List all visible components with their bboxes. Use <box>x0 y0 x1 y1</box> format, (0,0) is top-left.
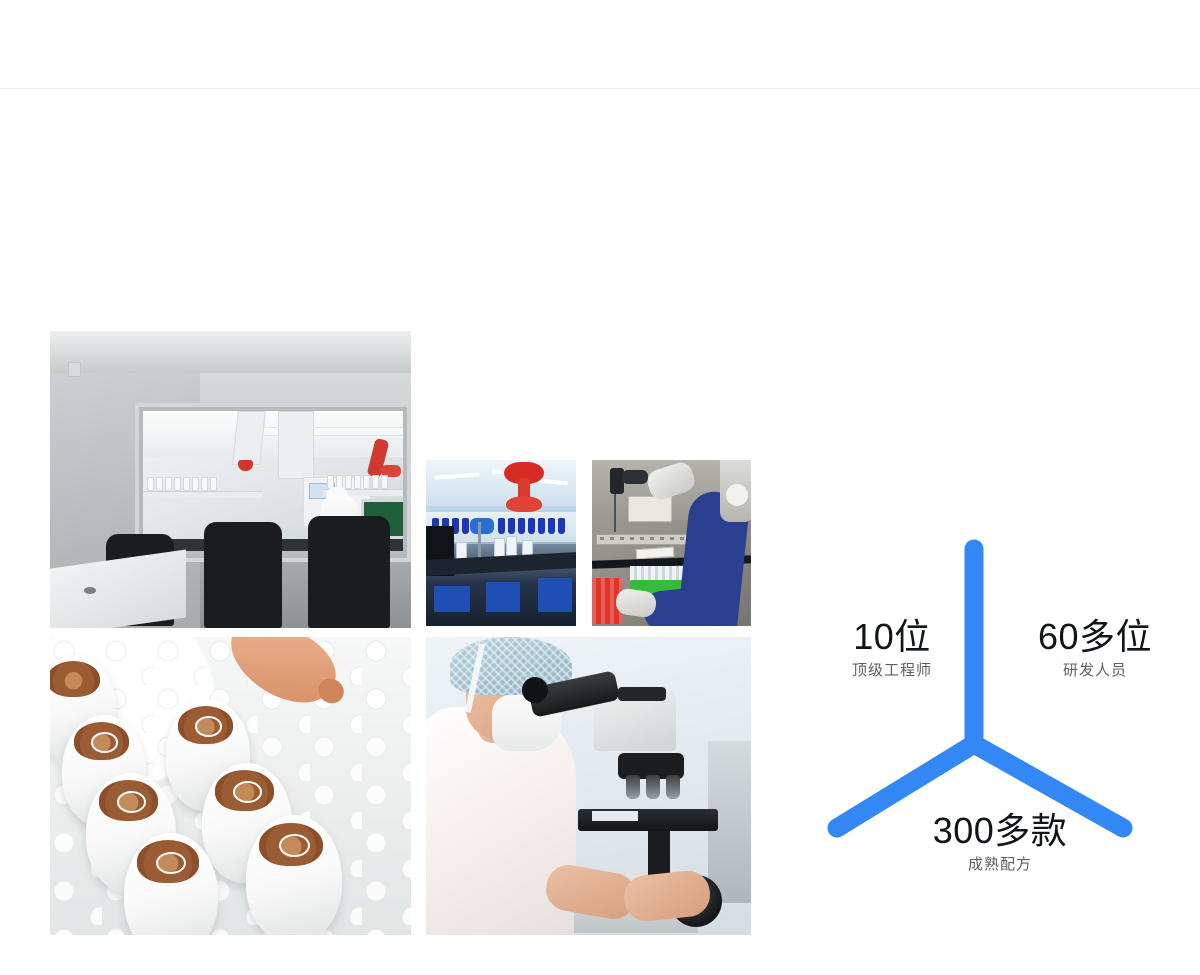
photo-bench[interactable]: Laboratory bench lined with blue reagent… <box>426 460 576 626</box>
stat-formulas-value: 300多款 <box>890 812 1110 850</box>
photo-microscope[interactable]: Female lab technician in hair net and fa… <box>426 637 751 935</box>
microscope-scene <box>426 637 751 935</box>
photo-tubes[interactable]: Technician in blue protective suit and g… <box>592 460 751 626</box>
stats-infographic: 10位 顶级工程师 60多位 研发人员 300多款 成熟配方 <box>800 500 1200 920</box>
eggs-scene <box>50 637 411 935</box>
photo-cleanroom[interactable]: Cleanroom observation room with large vi… <box>50 331 411 628</box>
stat-engineers-label: 顶级工程师 <box>812 662 972 680</box>
photo-eggs[interactable]: Numbered eggs opened in white foam trays… <box>50 637 411 935</box>
photo-gallery: Cleanroom observation room with large vi… <box>0 0 800 975</box>
stat-researchers-value: 60多位 <box>1000 618 1190 656</box>
page-root: Cleanroom observation room with large vi… <box>0 0 1200 975</box>
stat-engineers: 10位 顶级工程师 <box>812 618 972 680</box>
stat-researchers: 60多位 研发人员 <box>1000 618 1190 680</box>
stat-researchers-label: 研发人员 <box>1000 662 1190 680</box>
stat-engineers-value: 10位 <box>812 618 972 656</box>
cleanroom-scene <box>50 331 411 628</box>
stat-formulas: 300多款 成熟配方 <box>890 812 1110 874</box>
bench-scene <box>426 460 576 626</box>
stat-formulas-label: 成熟配方 <box>890 856 1110 874</box>
tubes-scene <box>592 460 751 626</box>
